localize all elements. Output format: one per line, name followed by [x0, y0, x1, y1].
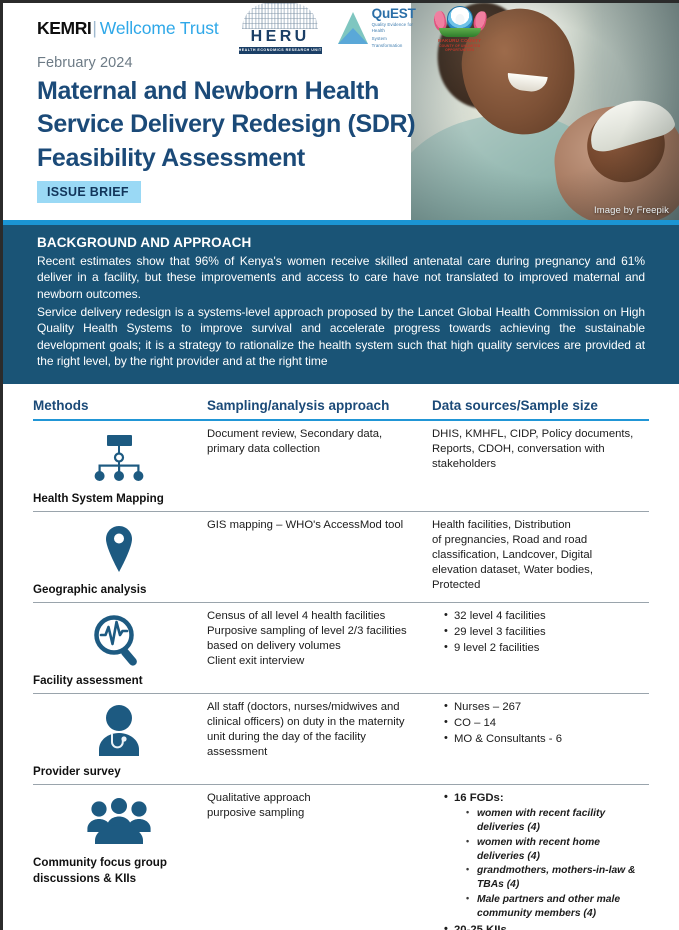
- health-magnifier-icon: [33, 609, 199, 671]
- list-item: women with recent home deliveries (4): [466, 836, 639, 864]
- county-crest-icon: [434, 5, 486, 37]
- logo-row: KEMRI|Wellcome Trust HERU HEALTH ECONOMI…: [3, 3, 473, 53]
- sampling-line: Document review, Secondary data,: [207, 427, 422, 442]
- sources-cell: Nurses – 267 CO – 14 MO & Consultants - …: [432, 694, 649, 785]
- list-item: women with recent facility deliveries (4…: [466, 807, 639, 835]
- sources-cell: 32 level 4 facilities 29 level 3 facilit…: [432, 603, 649, 694]
- list-item: MO & Consultants - 6: [444, 732, 639, 747]
- issue-brief-badge: ISSUE BRIEF: [37, 181, 141, 203]
- sources-line: stakeholders: [432, 457, 639, 472]
- sampling-line: based on delivery volumes: [207, 639, 422, 654]
- sources-bullet-list: 16 FGDs: women with recent facility deli…: [432, 791, 639, 930]
- list-item: Nurses – 267: [444, 700, 639, 715]
- sampling-line: Client exit interview: [207, 654, 422, 669]
- list-item: CO – 14: [444, 716, 639, 731]
- method-label: Provider survey: [33, 764, 199, 780]
- table-row: Facility assessment Census of all level …: [33, 603, 649, 694]
- method-cell: Community focus group discussions & KIIs: [33, 785, 207, 930]
- kemri-wellcome-trust-logo: KEMRI|Wellcome Trust: [37, 18, 219, 39]
- county-name-text: NAKURU COUNTY: [434, 38, 486, 43]
- page-title-line-1: Maternal and Newborn Health: [37, 75, 457, 108]
- quest-logo: QuEST Quality Evidence for Health System…: [338, 7, 416, 50]
- wellcome-trust-logo-text: Wellcome Trust: [100, 18, 219, 39]
- method-cell: Facility assessment: [33, 603, 207, 694]
- sampling-line: All staff (doctors, nurses/midwives and: [207, 700, 422, 715]
- issue-brief-page: Image by Freepik KEMRI|Wellcome Trust HE…: [0, 0, 679, 930]
- background-paragraph-2: Service delivery redesign is a systems-l…: [37, 304, 645, 369]
- background-approach-section: BACKGROUND AND APPROACH Recent estimates…: [3, 225, 679, 384]
- table-row: Community focus group discussions & KIIs…: [33, 785, 649, 930]
- method-cell: Health System Mapping: [33, 420, 207, 511]
- method-label: Facility assessment: [33, 673, 199, 689]
- heru-dome-icon: [242, 3, 318, 29]
- doctor-icon: [33, 700, 199, 762]
- sampling-line: purposive sampling: [207, 806, 422, 821]
- table-row: Geographic analysis GIS mapping – WHO's …: [33, 512, 649, 603]
- list-item-group-title: 20-25 KIIs Health providers (7) & Health…: [444, 923, 639, 930]
- sources-line: of pregnancies, Road and road: [432, 533, 639, 548]
- sub-list: women with recent facility deliveries (4…: [454, 807, 639, 920]
- sampling-cell: Census of all level 4 health facilities …: [207, 603, 432, 694]
- sampling-cell: Document review, Secondary data, primary…: [207, 420, 432, 511]
- method-cell: Geographic analysis: [33, 512, 207, 603]
- sampling-cell: Qualitative approach purposive sampling: [207, 785, 432, 930]
- background-paragraph-1: Recent estimates show that 96% of Kenya'…: [37, 253, 645, 302]
- quest-tagline-line1: Quality Evidence for Health: [372, 22, 416, 35]
- page-title: Maternal and Newborn Health Service Deli…: [37, 75, 457, 175]
- methods-table-wrap: Methods Sampling/analysis approach Data …: [3, 384, 679, 930]
- column-header-methods: Methods: [33, 384, 207, 420]
- sources-cell: 16 FGDs: women with recent facility deli…: [432, 785, 649, 930]
- kemri-divider: |: [92, 18, 96, 39]
- quest-tagline-line2: System Transformation: [372, 36, 416, 49]
- issue-date: February 2024: [37, 55, 457, 71]
- image-credit: Image by Freepik: [594, 205, 669, 216]
- column-header-sampling: Sampling/analysis approach: [207, 384, 432, 420]
- column-header-sources: Data sources/Sample size: [432, 384, 649, 420]
- county-motto-text: COUNTY OF UNLIMITED OPPORTUNITIES: [434, 44, 486, 52]
- quest-logo-text: QuEST: [372, 7, 416, 21]
- sampling-line: unit during the day of the facility: [207, 730, 422, 745]
- hero-header: Image by Freepik KEMRI|Wellcome Trust HE…: [3, 3, 679, 220]
- method-label: Geographic analysis: [33, 582, 199, 598]
- sampling-line: Census of all level 4 health facilities: [207, 609, 422, 624]
- sampling-line: Purposive sampling of level 2/3 faciliti…: [207, 624, 422, 639]
- focus-group-icon: [33, 791, 199, 853]
- group-title-text: 20-25 KIIs: [454, 924, 507, 930]
- sources-bullet-list: 32 level 4 facilities 29 level 3 facilit…: [432, 609, 639, 656]
- table-header-row: Methods Sampling/analysis approach Data …: [33, 384, 649, 420]
- methods-table: Methods Sampling/analysis approach Data …: [33, 384, 649, 930]
- method-label: Community focus group discussions & KIIs: [33, 855, 199, 887]
- sampling-cell: All staff (doctors, nurses/midwives and …: [207, 694, 432, 785]
- quest-triangle-icon: [338, 12, 368, 44]
- sampling-line: Qualitative approach: [207, 791, 422, 806]
- heru-logo: HERU HEALTH ECONOMICS RESEARCH UNIT: [239, 3, 322, 54]
- list-item: 29 level 3 facilities: [444, 625, 639, 640]
- list-item: grandmothers, mothers-in-law & TBAs (4): [466, 864, 639, 892]
- page-title-line-2: Service Delivery Redesign (SDR): [37, 108, 457, 141]
- nakuru-county-logo: NAKURU COUNTY COUNTY OF UNLIMITED OPPORT…: [434, 5, 486, 52]
- org-chart-icon: [33, 427, 199, 489]
- table-row: Health System Mapping Document review, S…: [33, 420, 649, 511]
- heru-logo-subtitle: HEALTH ECONOMICS RESEARCH UNIT: [239, 47, 322, 54]
- method-cell: Provider survey: [33, 694, 207, 785]
- sources-line: Protected: [432, 578, 639, 593]
- sampling-line: clinical officers) on duty in the matern…: [207, 715, 422, 730]
- heru-logo-text: HERU: [239, 28, 322, 46]
- list-item-group-title: 16 FGDs: women with recent facility deli…: [444, 791, 639, 921]
- sources-line: Health facilities, Distribution: [432, 518, 639, 533]
- sources-line: classification, Landcover, Digital: [432, 548, 639, 563]
- list-item: Male partners and other male community m…: [466, 893, 639, 921]
- sampling-line: primary data collection: [207, 442, 422, 457]
- sources-cell: DHIS, KMHFL, CIDP, Policy documents, Rep…: [432, 420, 649, 511]
- sampling-line: assessment: [207, 745, 422, 760]
- sampling-cell: GIS mapping – WHO's AccessMod tool: [207, 512, 432, 603]
- list-item: 32 level 4 facilities: [444, 609, 639, 624]
- map-pin-icon: [33, 518, 199, 580]
- list-item: 9 level 2 facilities: [444, 641, 639, 656]
- sources-cell: Health facilities, Distribution of pregn…: [432, 512, 649, 603]
- page-title-line-3: Feasibility Assessment: [37, 142, 457, 175]
- sources-line: DHIS, KMHFL, CIDP, Policy documents,: [432, 427, 639, 442]
- sampling-line: GIS mapping – WHO's AccessMod tool: [207, 518, 422, 533]
- background-heading: BACKGROUND AND APPROACH: [37, 235, 645, 250]
- sources-bullet-list: Nurses – 267 CO – 14 MO & Consultants - …: [432, 700, 639, 747]
- table-row: Provider survey All staff (doctors, nurs…: [33, 694, 649, 785]
- sources-line: elevation dataset, Water bodies,: [432, 563, 639, 578]
- kemri-logo-text: KEMRI: [37, 18, 91, 39]
- sources-line: Reports, CDOH, conversation with: [432, 442, 639, 457]
- title-block: February 2024 Maternal and Newborn Healt…: [37, 55, 457, 203]
- group-title-text: 16 FGDs:: [454, 792, 504, 804]
- method-label: Health System Mapping: [33, 491, 199, 507]
